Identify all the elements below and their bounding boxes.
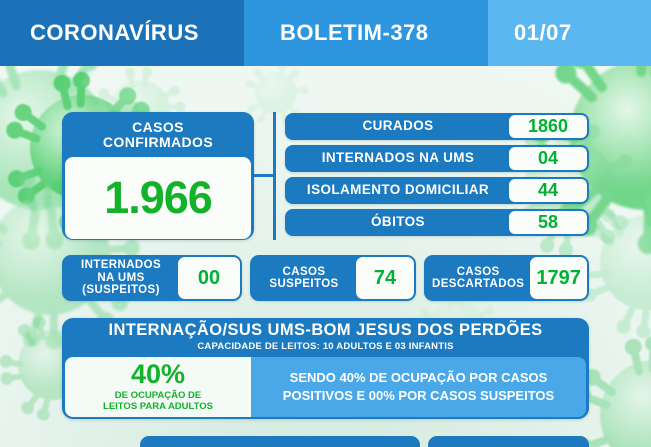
hospital-detail-block: SENDO 40% DE OCUPAÇÃO POR CASOS POSITIVO… [251, 357, 586, 417]
bottom-panel-right-clipped [428, 436, 589, 447]
header-bar: CORONAVÍRUS BOLETIM-378 01/07 [0, 0, 651, 66]
bottom-panel-left-clipped [140, 436, 420, 447]
virus-spike [44, 172, 53, 208]
confirmed-cases-label-line1: CASOS [132, 120, 184, 135]
mid-stat-value: 74 [374, 267, 396, 290]
mid-stat-row: CASOSDESCARTADOS1797 [424, 255, 589, 301]
hospital-detail-line2: POSITIVOS E 00% POR CASOS SUSPEITOS [283, 388, 554, 403]
stat-row: CURADOS1860 [285, 113, 589, 140]
connector-horizontal [254, 174, 276, 177]
hospital-detail-text: SENDO 40% DE OCUPAÇÃO POR CASOS POSITIVO… [283, 369, 554, 404]
stat-row-label: ÓBITOS [287, 211, 509, 234]
mid-stat-label-line1: CASOS [457, 266, 500, 278]
mid-stat-row: INTERNADOSNA UMS(SUSPEITOS)00 [62, 255, 242, 301]
virus-icon [255, 72, 297, 114]
stat-row: INTERNADOS NA UMS04 [285, 145, 589, 172]
header-band-date: 01/07 [488, 0, 651, 66]
mid-stat-label-line1: INTERNADOS [81, 259, 161, 271]
stat-row-value-panel: 44 [509, 179, 587, 202]
mid-stat-label-line2: NA UMS [97, 272, 144, 284]
mid-stat-row: CASOSSUSPEITOS74 [250, 255, 416, 301]
hospital-title: INTERNAÇÃO/SUS UMS-BOM JESUS DOS PERDÕES [65, 321, 586, 341]
mid-stat-label-line2: DESCARTADOS [432, 278, 524, 290]
hospital-detail-line1: SENDO 40% DE OCUPAÇÃO POR CASOS [290, 370, 548, 385]
stat-row-label: INTERNADOS NA UMS [287, 147, 509, 170]
virus-spike [293, 88, 306, 93]
hospital-occupancy-caption: DE OCUPAÇÃO DE LEITOS PARA ADULTOS [103, 391, 213, 413]
virus-spike [100, 244, 137, 255]
hospital-subtitle: CAPACIDADE DE LEITOS: 10 ADULTOS E 03 IN… [65, 341, 586, 354]
confirmed-cases-label: CASOS CONFIRMADOS [65, 115, 251, 155]
stat-row-label: CURADOS [287, 115, 509, 138]
stat-row-value-panel: 1860 [509, 115, 587, 138]
stat-row-value-panel: 04 [509, 147, 587, 170]
hospital-panel: INTERNAÇÃO/SUS UMS-BOM JESUS DOS PERDÕES… [62, 318, 589, 419]
hospital-occupancy-block: 40% DE OCUPAÇÃO DE LEITOS PARA ADULTOS [65, 357, 251, 417]
header-bulletin: BOLETIM-378 [280, 20, 429, 46]
stat-row-label: ISOLAMENTO DOMICILIAR [287, 179, 509, 202]
mid-stat-value-panel: 00 [178, 257, 240, 299]
hospital-body: 40% DE OCUPAÇÃO DE LEITOS PARA ADULTOS S… [65, 357, 586, 417]
stat-row-value: 04 [538, 148, 558, 169]
mid-stat-value: 00 [198, 267, 220, 290]
stat-row: ISOLAMENTO DOMICILIAR44 [285, 177, 589, 204]
mid-stat-label-line1: CASOS [283, 266, 326, 278]
hospital-occupancy-caption-line2: LEITOS PARA ADULTOS [103, 402, 213, 413]
confirmed-cases-value: 1.966 [104, 172, 212, 224]
stat-row-value-panel: 58 [509, 211, 587, 234]
mid-stat-value-panel: 1797 [530, 257, 587, 299]
confirmed-cases-card: CASOS CONFIRMADOS 1.966 [62, 112, 254, 240]
stat-row: ÓBITOS58 [285, 209, 589, 236]
virus-spike [165, 104, 183, 111]
virus-spike [76, 76, 85, 108]
mid-stat-label: CASOSDESCARTADOS [426, 257, 530, 299]
infographic-root: CORONAVÍRUS BOLETIM-378 01/07 CASOS CONF… [0, 0, 651, 447]
virus-spike [607, 176, 635, 185]
mid-stat-label-line2: SUSPEITOS [269, 278, 338, 290]
confirmed-cases-value-panel: 1.966 [65, 157, 251, 239]
stat-row-value: 44 [538, 180, 558, 201]
confirmed-cases-label-line2: CONFIRMADOS [103, 135, 213, 150]
stat-row-value: 1860 [528, 116, 568, 137]
header-title: CORONAVÍRUS [30, 20, 199, 46]
mid-stat-label-line3: (SUSPEITOS) [82, 284, 160, 296]
header-date: 01/07 [514, 20, 572, 46]
mid-stat-value: 1797 [536, 267, 581, 290]
mid-stat-label: INTERNADOSNA UMS(SUSPEITOS) [64, 257, 178, 299]
mid-stat-value-panel: 74 [356, 257, 414, 299]
stat-row-value: 58 [538, 212, 558, 233]
mid-stat-label: CASOSSUSPEITOS [252, 257, 356, 299]
hospital-occupancy-percent: 40% [131, 361, 185, 388]
